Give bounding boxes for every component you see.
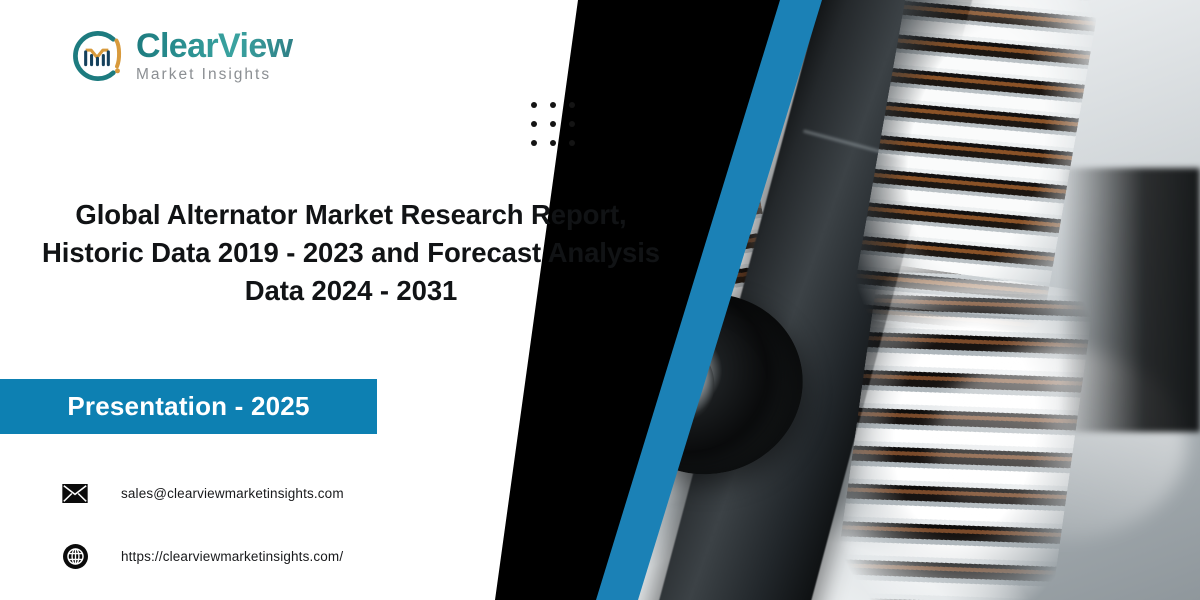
contact-row-website[interactable]: https://clearviewmarketinsights.com/ bbox=[60, 525, 480, 588]
globe-icon bbox=[60, 542, 90, 572]
presentation-banner: Presentation - 2025 bbox=[0, 379, 377, 434]
grid-dot bbox=[531, 102, 537, 108]
photo-cooling-fins-lower-right bbox=[831, 263, 1095, 600]
report-title: Global Alternator Market Research Report… bbox=[36, 196, 666, 310]
contact-list: sales@clearviewmarketinsights.com https:… bbox=[60, 462, 480, 600]
photo-shadow-recess bbox=[1059, 168, 1200, 432]
brand-logo: ClearView Market Insights bbox=[68, 27, 293, 85]
clearview-cm-monogram-icon bbox=[68, 27, 126, 85]
photo-highlight-bottom bbox=[931, 348, 1187, 540]
photo-dark-band bbox=[639, 0, 986, 600]
contact-email-value[interactable]: sales@clearviewmarketinsights.com bbox=[121, 486, 344, 501]
presentation-banner-label: Presentation - 2025 bbox=[67, 391, 309, 422]
grid-dot bbox=[550, 102, 556, 108]
report-cover-slide: ClearView Market Insights Global Alterna… bbox=[0, 0, 1200, 600]
contact-row-email[interactable]: sales@clearviewmarketinsights.com bbox=[60, 462, 480, 525]
contact-row-phone[interactable] bbox=[60, 588, 480, 600]
brand-name-sub: Market Insights bbox=[136, 67, 293, 83]
photo-cooling-fins-upper-right bbox=[849, 0, 1103, 350]
grid-dot bbox=[569, 140, 575, 146]
grid-dot bbox=[550, 140, 556, 146]
grid-dot bbox=[569, 102, 575, 108]
envelope-icon bbox=[60, 479, 90, 509]
dot-grid-decoration-icon bbox=[531, 102, 575, 146]
grid-dot bbox=[531, 121, 537, 127]
brand-wordmark: ClearView Market Insights bbox=[136, 29, 293, 83]
photo-highlight-top bbox=[650, 0, 944, 180]
grid-dot bbox=[550, 121, 556, 127]
grid-dot bbox=[531, 140, 537, 146]
brand-name-main: ClearView bbox=[136, 29, 293, 63]
grid-dot bbox=[569, 121, 575, 127]
contact-website-value[interactable]: https://clearviewmarketinsights.com/ bbox=[121, 549, 343, 564]
